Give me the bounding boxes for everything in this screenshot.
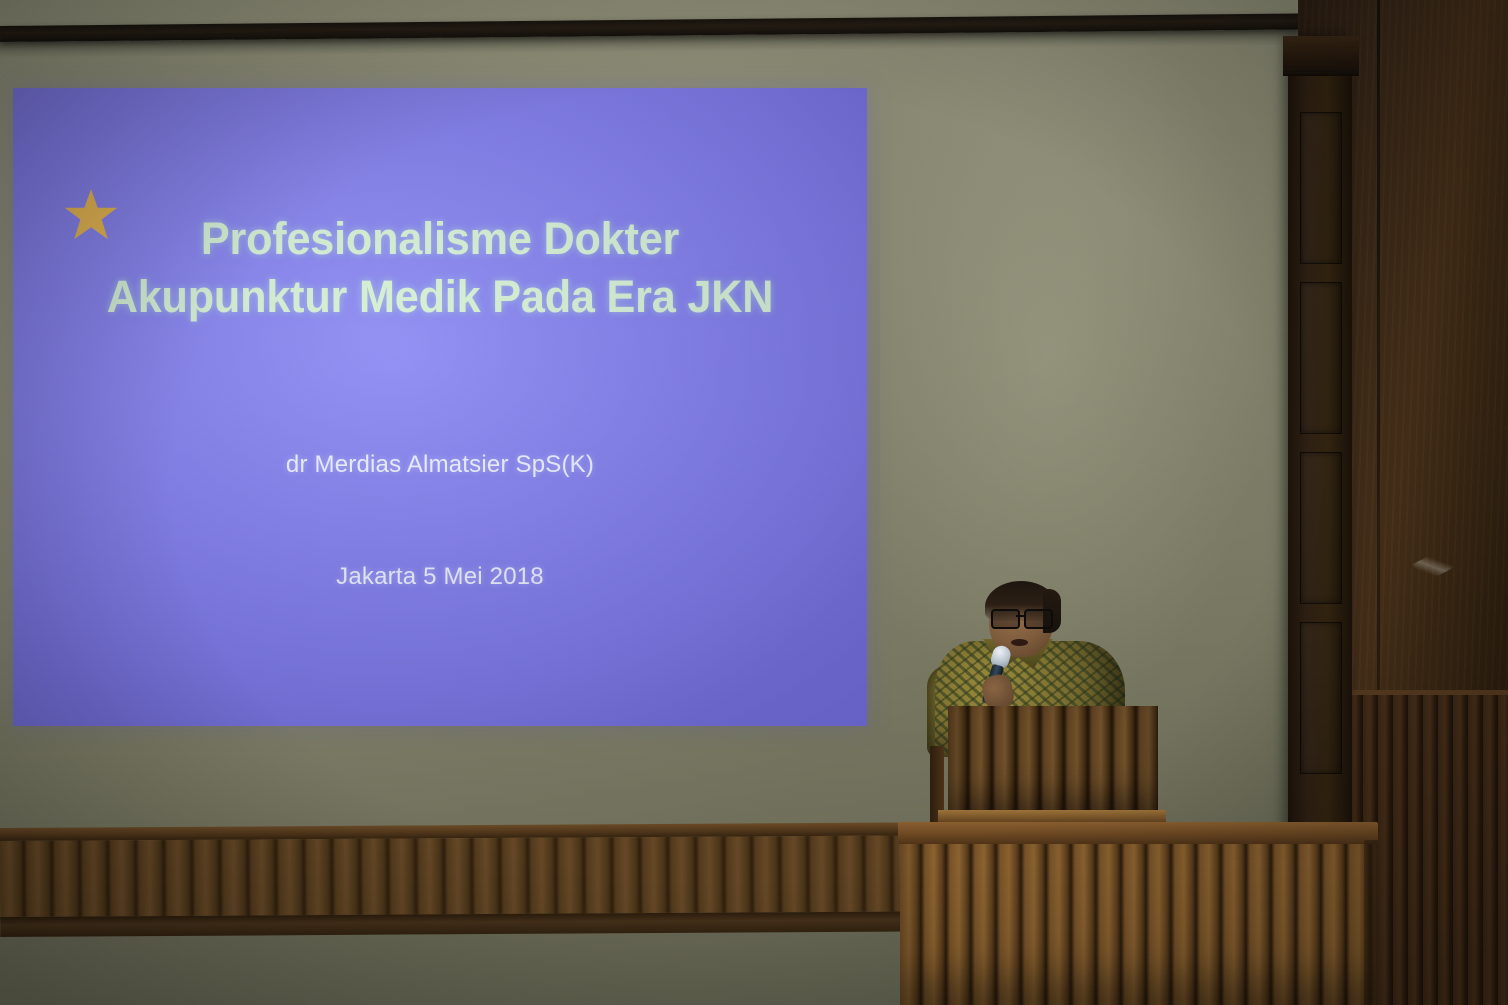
- slide-title-line-1: Profesionalisme Dokter: [30, 210, 850, 268]
- projection-screen-slide: Profesionalisme Dokter Akupunktur Medik …: [13, 88, 867, 726]
- glasses-right-lens: [1024, 609, 1053, 629]
- slide-title: Profesionalisme Dokter Akupunktur Medik …: [30, 210, 850, 325]
- speaker-mouth: [1011, 639, 1028, 646]
- counter-front-slats: [900, 844, 1376, 1005]
- slide-place-date: Jakarta 5 Mei 2018: [13, 563, 867, 591]
- glasses-bridge: [1016, 615, 1024, 617]
- glasses-icon: [991, 609, 1051, 625]
- counter-right-edge: [1364, 840, 1378, 1005]
- pilaster-panel: [1300, 622, 1342, 774]
- wooden-podium: [938, 706, 1166, 834]
- presentation-photo: Profesionalisme Dokter Akupunktur Medik …: [0, 0, 1508, 1005]
- counter-top-surface: [898, 822, 1378, 844]
- slide-vignette: [13, 88, 867, 726]
- pilaster-capital: [1283, 36, 1359, 76]
- slide-presenter-name: dr Merdias Almatsier SpS(K): [13, 451, 867, 479]
- slide-title-line-2: Akupunktur Medik Pada Era JKN: [30, 268, 850, 326]
- wainscot-base-rail: [0, 912, 900, 937]
- wooden-counter-desk: [898, 822, 1378, 1005]
- wainscot-slats: [0, 836, 900, 917]
- podium-front-slats: [948, 706, 1158, 814]
- pilaster-panel: [1300, 282, 1342, 434]
- glasses-left-lens: [991, 609, 1020, 629]
- wall-wainscot-panel: [0, 823, 900, 944]
- pilaster-panel: [1300, 452, 1342, 604]
- pilaster-panel: [1300, 112, 1342, 264]
